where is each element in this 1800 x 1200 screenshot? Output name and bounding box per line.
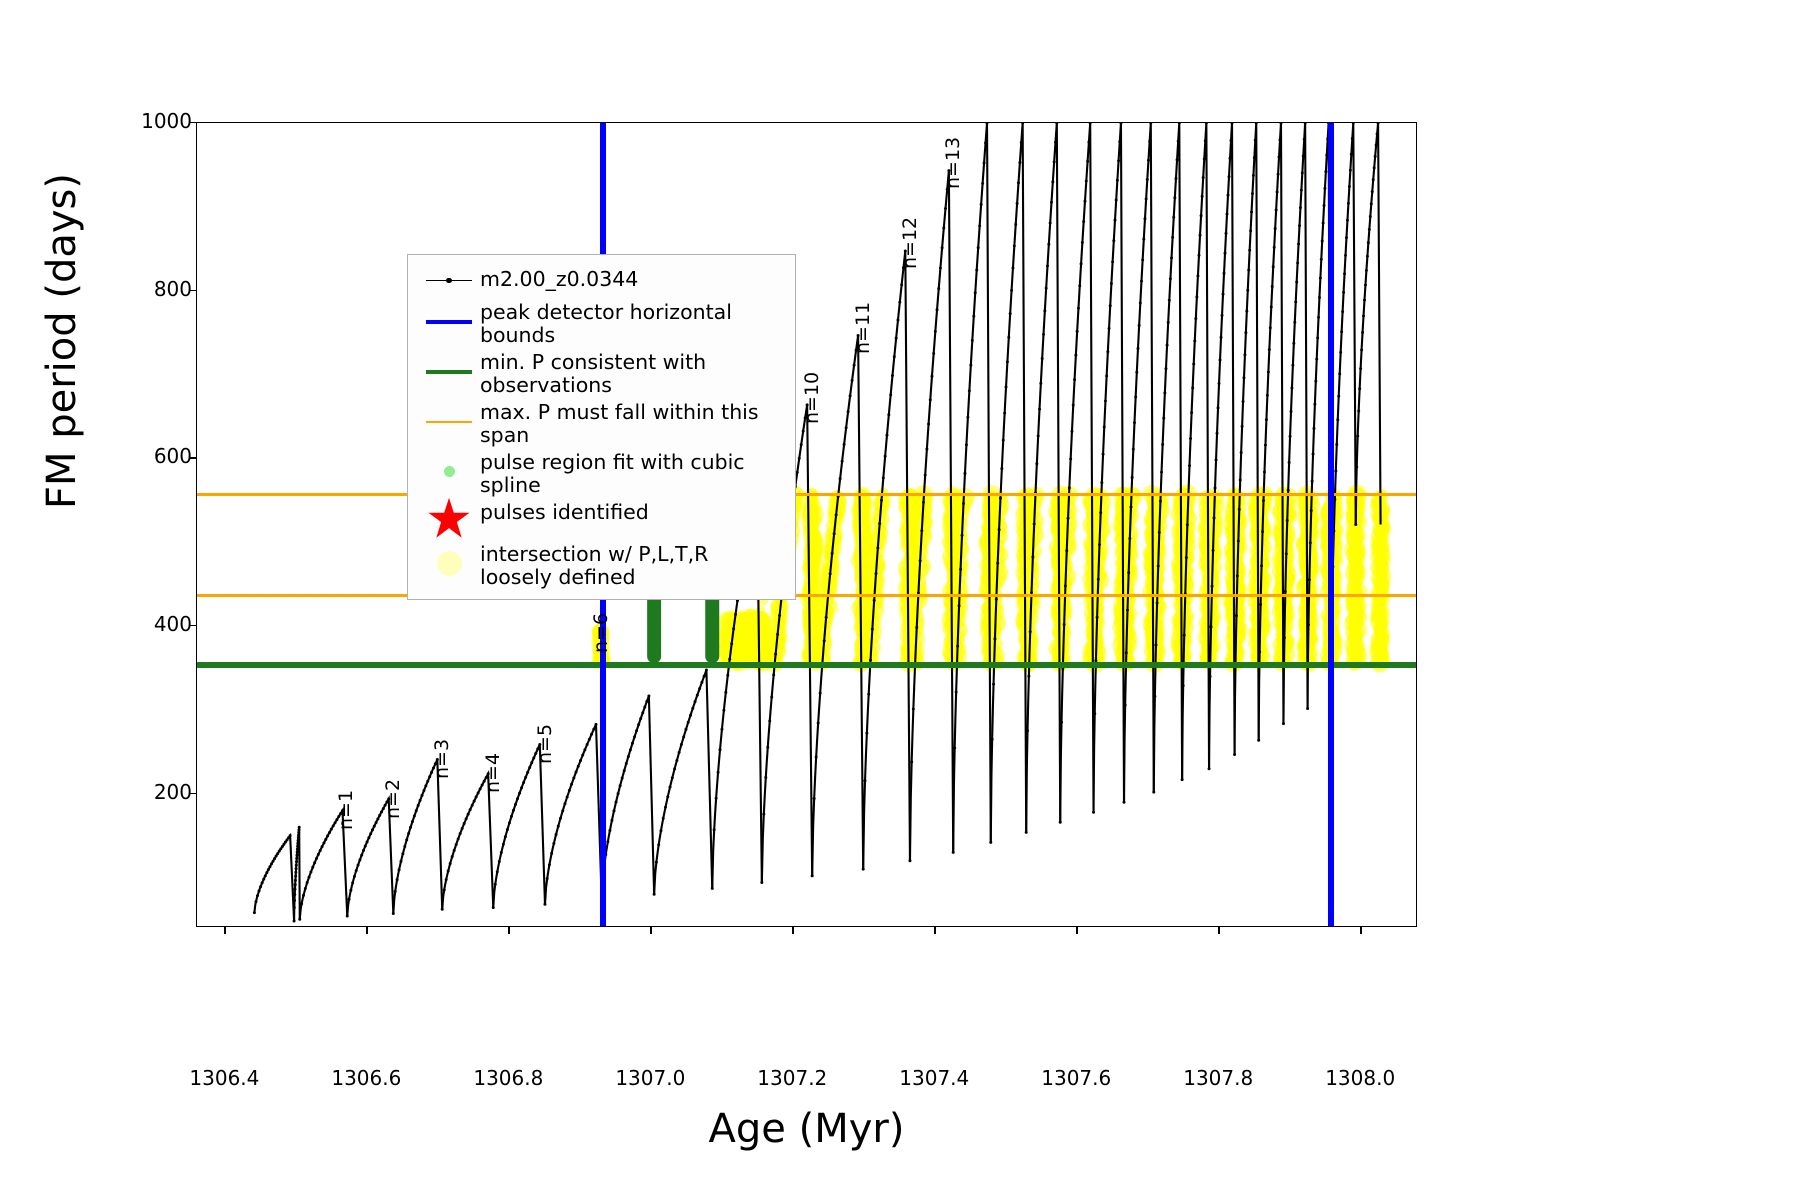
data-point bbox=[293, 919, 296, 922]
data-point bbox=[1185, 556, 1188, 559]
data-point bbox=[1360, 348, 1363, 351]
data-point bbox=[1252, 174, 1255, 177]
data-point bbox=[1369, 215, 1372, 218]
data-point bbox=[586, 743, 589, 746]
data-point bbox=[1208, 767, 1211, 770]
data-point bbox=[1285, 552, 1288, 555]
data-point bbox=[581, 754, 584, 757]
data-point bbox=[1035, 462, 1038, 465]
data-point bbox=[1227, 194, 1230, 197]
data-point bbox=[880, 499, 883, 502]
data-point bbox=[453, 849, 456, 852]
data-point bbox=[922, 501, 925, 504]
data-point bbox=[1204, 139, 1207, 142]
data-point bbox=[819, 692, 822, 695]
data-point bbox=[1221, 314, 1224, 317]
data-point bbox=[912, 707, 915, 710]
x-tick-mark bbox=[650, 927, 651, 934]
data-point bbox=[405, 838, 408, 841]
data-point bbox=[965, 443, 968, 446]
data-point bbox=[447, 869, 450, 872]
data-point bbox=[778, 614, 781, 617]
x-tick-mark bbox=[224, 927, 225, 934]
data-point bbox=[1320, 258, 1323, 261]
data-point bbox=[955, 690, 958, 693]
data-point bbox=[999, 497, 1002, 500]
data-point bbox=[1225, 232, 1228, 235]
data-point bbox=[1039, 382, 1042, 385]
data-point bbox=[1123, 801, 1126, 804]
data-point bbox=[811, 874, 814, 877]
data-point bbox=[563, 802, 566, 805]
data-point bbox=[1112, 239, 1115, 242]
x-tick-mark bbox=[366, 927, 367, 934]
data-point bbox=[1069, 457, 1072, 460]
data-point bbox=[1115, 199, 1118, 202]
data-point bbox=[265, 871, 268, 874]
data-point bbox=[995, 598, 998, 601]
peak-annotation-n4: n=4 bbox=[482, 753, 504, 793]
data-point bbox=[875, 572, 878, 575]
data-point bbox=[1288, 461, 1291, 464]
data-point bbox=[847, 410, 850, 413]
data-point bbox=[449, 862, 452, 865]
data-point bbox=[1323, 204, 1326, 207]
data-point bbox=[698, 687, 701, 690]
data-point bbox=[477, 791, 480, 794]
data-point bbox=[1263, 470, 1266, 473]
data-point bbox=[256, 894, 259, 897]
data-point bbox=[983, 162, 986, 165]
data-point bbox=[583, 748, 586, 751]
curve-segment bbox=[1026, 123, 1060, 832]
data-point bbox=[1105, 374, 1108, 377]
data-point bbox=[1182, 684, 1185, 687]
data-point bbox=[295, 860, 298, 863]
data-point bbox=[1269, 326, 1272, 329]
curve-segment bbox=[1182, 123, 1209, 780]
data-point bbox=[1356, 435, 1359, 438]
data-point bbox=[726, 674, 729, 677]
data-point bbox=[770, 696, 773, 699]
data-point bbox=[557, 825, 560, 828]
data-point bbox=[1237, 540, 1240, 543]
data-point bbox=[774, 653, 777, 656]
data-point bbox=[925, 448, 928, 451]
x-tick-mark bbox=[1076, 927, 1077, 934]
data-point bbox=[971, 339, 974, 342]
data-point bbox=[1341, 310, 1344, 313]
data-point bbox=[528, 766, 531, 769]
data-point bbox=[1335, 443, 1338, 446]
data-point bbox=[262, 878, 265, 881]
data-point bbox=[910, 760, 913, 763]
data-point bbox=[1060, 721, 1063, 724]
data-point bbox=[267, 868, 270, 871]
data-point bbox=[270, 862, 273, 865]
data-point bbox=[1126, 609, 1129, 612]
data-point bbox=[1229, 157, 1232, 160]
data-point bbox=[409, 826, 412, 829]
data-point bbox=[1102, 453, 1105, 456]
data-point bbox=[1315, 358, 1318, 361]
data-point bbox=[719, 748, 722, 751]
x-tick-label: 1306.4 bbox=[164, 1066, 284, 1090]
data-point bbox=[1253, 156, 1256, 159]
data-point bbox=[473, 800, 476, 803]
data-point bbox=[924, 474, 927, 477]
data-point bbox=[315, 857, 318, 860]
legend-label: min. P consistent with observations bbox=[480, 347, 785, 397]
data-point bbox=[1220, 336, 1223, 339]
data-point bbox=[1026, 729, 1029, 732]
data-point bbox=[1311, 480, 1314, 483]
line-blue-icon bbox=[418, 320, 480, 325]
data-point bbox=[815, 755, 818, 758]
data-point bbox=[1193, 339, 1196, 342]
data-point bbox=[944, 207, 947, 210]
data-point bbox=[958, 604, 961, 607]
data-point bbox=[514, 803, 517, 806]
data-point bbox=[398, 868, 401, 871]
data-point bbox=[309, 871, 312, 874]
data-point bbox=[673, 767, 676, 770]
data-point bbox=[275, 855, 278, 858]
x-tick-mark bbox=[1218, 927, 1219, 934]
data-point bbox=[1029, 630, 1032, 633]
data-point bbox=[1284, 590, 1287, 593]
data-point bbox=[876, 546, 879, 549]
data-point bbox=[655, 861, 658, 864]
data-point bbox=[724, 691, 727, 694]
data-point bbox=[445, 878, 448, 881]
data-point bbox=[1321, 239, 1324, 242]
data-point bbox=[296, 848, 299, 851]
data-point bbox=[831, 552, 834, 555]
line-green-icon bbox=[418, 370, 480, 375]
peak-annotation-n1: n=1 bbox=[335, 790, 357, 830]
data-point bbox=[1053, 160, 1056, 163]
intersection-point bbox=[1346, 515, 1363, 532]
data-point bbox=[346, 914, 349, 917]
data-point bbox=[1295, 281, 1298, 284]
y-tick-mark bbox=[189, 625, 196, 626]
data-point bbox=[981, 182, 984, 185]
data-point bbox=[1199, 234, 1202, 237]
data-point bbox=[294, 875, 297, 878]
data-point bbox=[295, 864, 298, 867]
data-point bbox=[1262, 499, 1265, 502]
data-point bbox=[308, 876, 311, 879]
data-point bbox=[1100, 481, 1103, 484]
data-point bbox=[1243, 353, 1246, 356]
data-point bbox=[1168, 299, 1171, 302]
data-point bbox=[625, 762, 628, 765]
data-point bbox=[253, 911, 256, 914]
data-point bbox=[1186, 523, 1189, 526]
data-point bbox=[371, 828, 374, 831]
data-point bbox=[1110, 282, 1113, 285]
data-point bbox=[823, 639, 826, 642]
data-point bbox=[1125, 651, 1128, 654]
legend-label: pulses identified bbox=[480, 497, 649, 524]
data-point bbox=[1355, 466, 1358, 469]
data-point bbox=[364, 845, 367, 848]
legend-item-peak-bounds: peak detector horizontal bounds bbox=[418, 297, 785, 347]
data-point bbox=[295, 867, 298, 870]
y-tick-label: 1000 bbox=[72, 109, 192, 133]
data-point bbox=[1156, 601, 1159, 604]
data-point bbox=[1099, 511, 1102, 514]
hline-max-P-upper bbox=[197, 493, 1416, 496]
data-point bbox=[508, 821, 511, 824]
curve-segment bbox=[1356, 123, 1381, 525]
data-point bbox=[645, 700, 648, 703]
data-point bbox=[998, 528, 1001, 531]
data-point bbox=[1287, 489, 1290, 492]
data-point bbox=[1346, 219, 1349, 222]
data-point bbox=[1046, 264, 1049, 267]
data-point bbox=[1139, 301, 1142, 304]
data-point bbox=[862, 868, 865, 871]
data-point bbox=[319, 849, 322, 852]
data-point bbox=[1132, 448, 1135, 451]
data-point bbox=[413, 815, 416, 818]
data-point bbox=[1213, 517, 1216, 520]
data-point bbox=[1050, 201, 1053, 204]
data-point bbox=[1211, 585, 1214, 588]
data-point bbox=[1374, 155, 1377, 158]
data-point bbox=[972, 315, 975, 318]
data-point bbox=[548, 863, 551, 866]
line-orange-icon bbox=[418, 421, 480, 423]
data-point bbox=[610, 819, 613, 822]
y-tick-mark bbox=[189, 122, 196, 123]
data-point bbox=[592, 728, 595, 731]
data-point bbox=[936, 308, 939, 311]
data-point bbox=[328, 831, 331, 834]
data-point bbox=[1031, 555, 1034, 558]
data-point bbox=[1224, 252, 1227, 255]
intersection-point bbox=[754, 615, 769, 630]
data-point bbox=[588, 738, 591, 741]
data-point bbox=[845, 426, 848, 429]
data-point bbox=[736, 599, 739, 602]
data-point bbox=[302, 894, 305, 897]
data-point bbox=[1000, 467, 1003, 470]
data-point bbox=[1309, 541, 1312, 544]
data-point bbox=[639, 717, 642, 720]
data-point bbox=[272, 860, 275, 863]
data-point bbox=[297, 831, 300, 834]
data-point bbox=[700, 681, 703, 684]
intersection-point bbox=[731, 646, 742, 657]
x-tick-label: 1307.2 bbox=[732, 1066, 852, 1090]
data-point bbox=[296, 842, 299, 845]
data-point bbox=[330, 828, 333, 831]
data-point bbox=[1307, 623, 1310, 626]
data-point bbox=[355, 869, 358, 872]
data-point bbox=[424, 784, 427, 787]
data-point bbox=[977, 246, 980, 249]
data-point bbox=[575, 771, 578, 774]
data-point bbox=[694, 700, 697, 703]
data-point bbox=[1337, 395, 1340, 398]
data-point bbox=[415, 809, 418, 812]
data-point bbox=[1345, 236, 1348, 239]
data-point bbox=[1007, 336, 1010, 339]
x-tick-label: 1307.0 bbox=[590, 1066, 710, 1090]
data-point bbox=[258, 889, 261, 892]
data-point bbox=[510, 815, 513, 818]
data-point bbox=[1202, 176, 1205, 179]
data-point bbox=[1006, 360, 1009, 363]
x-tick-mark bbox=[1360, 927, 1361, 934]
data-point bbox=[1152, 791, 1155, 794]
data-point bbox=[1116, 179, 1119, 182]
data-point bbox=[1301, 171, 1304, 174]
data-point bbox=[878, 522, 881, 525]
data-point bbox=[1362, 314, 1365, 317]
data-point bbox=[494, 883, 497, 886]
data-point bbox=[1298, 224, 1301, 227]
data-point bbox=[1086, 160, 1089, 163]
data-point bbox=[664, 806, 667, 809]
data-point bbox=[717, 771, 720, 774]
data-point bbox=[889, 393, 892, 396]
data-point bbox=[800, 443, 803, 446]
data-point bbox=[1235, 614, 1238, 617]
x-tick-label: 1307.8 bbox=[1158, 1066, 1278, 1090]
data-point bbox=[961, 534, 964, 537]
data-point bbox=[1265, 418, 1268, 421]
data-point bbox=[1323, 187, 1326, 190]
data-point bbox=[829, 572, 832, 575]
data-point bbox=[1141, 258, 1144, 261]
data-point bbox=[1349, 169, 1352, 172]
data-point bbox=[895, 337, 898, 340]
y-tick-mark bbox=[189, 457, 196, 458]
data-point bbox=[496, 870, 499, 873]
data-point bbox=[313, 861, 316, 864]
data-point bbox=[896, 319, 899, 322]
data-point bbox=[1294, 300, 1297, 303]
data-point bbox=[796, 471, 799, 474]
data-point bbox=[1314, 380, 1317, 383]
data-point bbox=[853, 364, 856, 367]
data-point bbox=[1219, 359, 1222, 362]
data-point bbox=[1158, 531, 1161, 534]
data-point bbox=[1085, 180, 1088, 183]
data-point bbox=[1104, 400, 1107, 403]
data-point bbox=[1260, 564, 1263, 567]
data-point bbox=[1348, 185, 1351, 188]
data-point bbox=[1372, 178, 1375, 181]
data-point bbox=[1214, 487, 1217, 490]
data-point bbox=[937, 287, 940, 290]
data-point bbox=[1290, 410, 1293, 413]
x-axis-label: Age (Myr) bbox=[196, 1106, 1417, 1152]
data-point bbox=[524, 776, 527, 779]
data-point bbox=[492, 906, 495, 909]
data-point bbox=[1365, 269, 1368, 272]
data-point bbox=[1254, 139, 1257, 142]
data-point bbox=[1194, 317, 1197, 320]
y-tick-mark bbox=[189, 290, 196, 291]
data-point bbox=[297, 836, 300, 839]
data-point bbox=[543, 903, 546, 906]
data-point bbox=[1164, 367, 1167, 370]
data-point bbox=[776, 633, 779, 636]
data-point bbox=[1188, 464, 1191, 467]
data-point bbox=[1111, 260, 1114, 263]
data-point bbox=[1196, 274, 1199, 277]
data-point bbox=[1368, 228, 1371, 231]
data-point bbox=[927, 422, 930, 425]
data-point bbox=[1276, 190, 1279, 193]
data-point bbox=[934, 330, 937, 333]
data-point bbox=[407, 832, 410, 835]
data-point bbox=[1078, 284, 1081, 287]
data-point bbox=[1051, 180, 1054, 183]
data-point bbox=[1371, 190, 1374, 193]
data-point bbox=[680, 743, 683, 746]
peak-annotation-n3: n=3 bbox=[431, 739, 453, 779]
data-point bbox=[326, 834, 329, 837]
data-point bbox=[1358, 387, 1361, 390]
data-point bbox=[637, 723, 640, 726]
data-point bbox=[942, 226, 945, 229]
data-point bbox=[579, 759, 582, 762]
data-point bbox=[1297, 243, 1300, 246]
curve-segment bbox=[442, 774, 493, 910]
data-point bbox=[475, 795, 478, 798]
data-point bbox=[1063, 623, 1066, 626]
data-point bbox=[722, 709, 725, 712]
data-point bbox=[504, 835, 507, 838]
data-point bbox=[623, 769, 626, 772]
data-point bbox=[1278, 155, 1281, 158]
data-point bbox=[684, 728, 687, 731]
data-point bbox=[467, 813, 470, 816]
data-point bbox=[358, 858, 361, 861]
data-point bbox=[351, 881, 354, 884]
data-point bbox=[293, 893, 296, 896]
data-point bbox=[662, 817, 665, 820]
data-point bbox=[851, 379, 854, 382]
data-point bbox=[1318, 296, 1321, 299]
data-point bbox=[1073, 378, 1076, 381]
legend-item-pulses: pulses identified bbox=[418, 497, 785, 539]
data-point bbox=[1161, 443, 1164, 446]
data-point bbox=[1065, 549, 1068, 552]
data-point bbox=[1010, 289, 1013, 292]
data-point bbox=[1167, 321, 1170, 324]
data-point bbox=[297, 839, 300, 842]
data-point bbox=[975, 268, 978, 271]
data-point bbox=[1375, 144, 1378, 147]
data-point bbox=[1361, 331, 1364, 334]
data-point bbox=[559, 817, 562, 820]
data-point bbox=[520, 786, 523, 789]
data-point bbox=[293, 899, 296, 902]
data-point bbox=[349, 889, 352, 892]
data-point bbox=[366, 840, 369, 843]
data-point bbox=[1319, 277, 1322, 280]
data-point bbox=[348, 898, 351, 901]
data-point bbox=[1259, 603, 1262, 606]
data-point bbox=[259, 885, 262, 888]
